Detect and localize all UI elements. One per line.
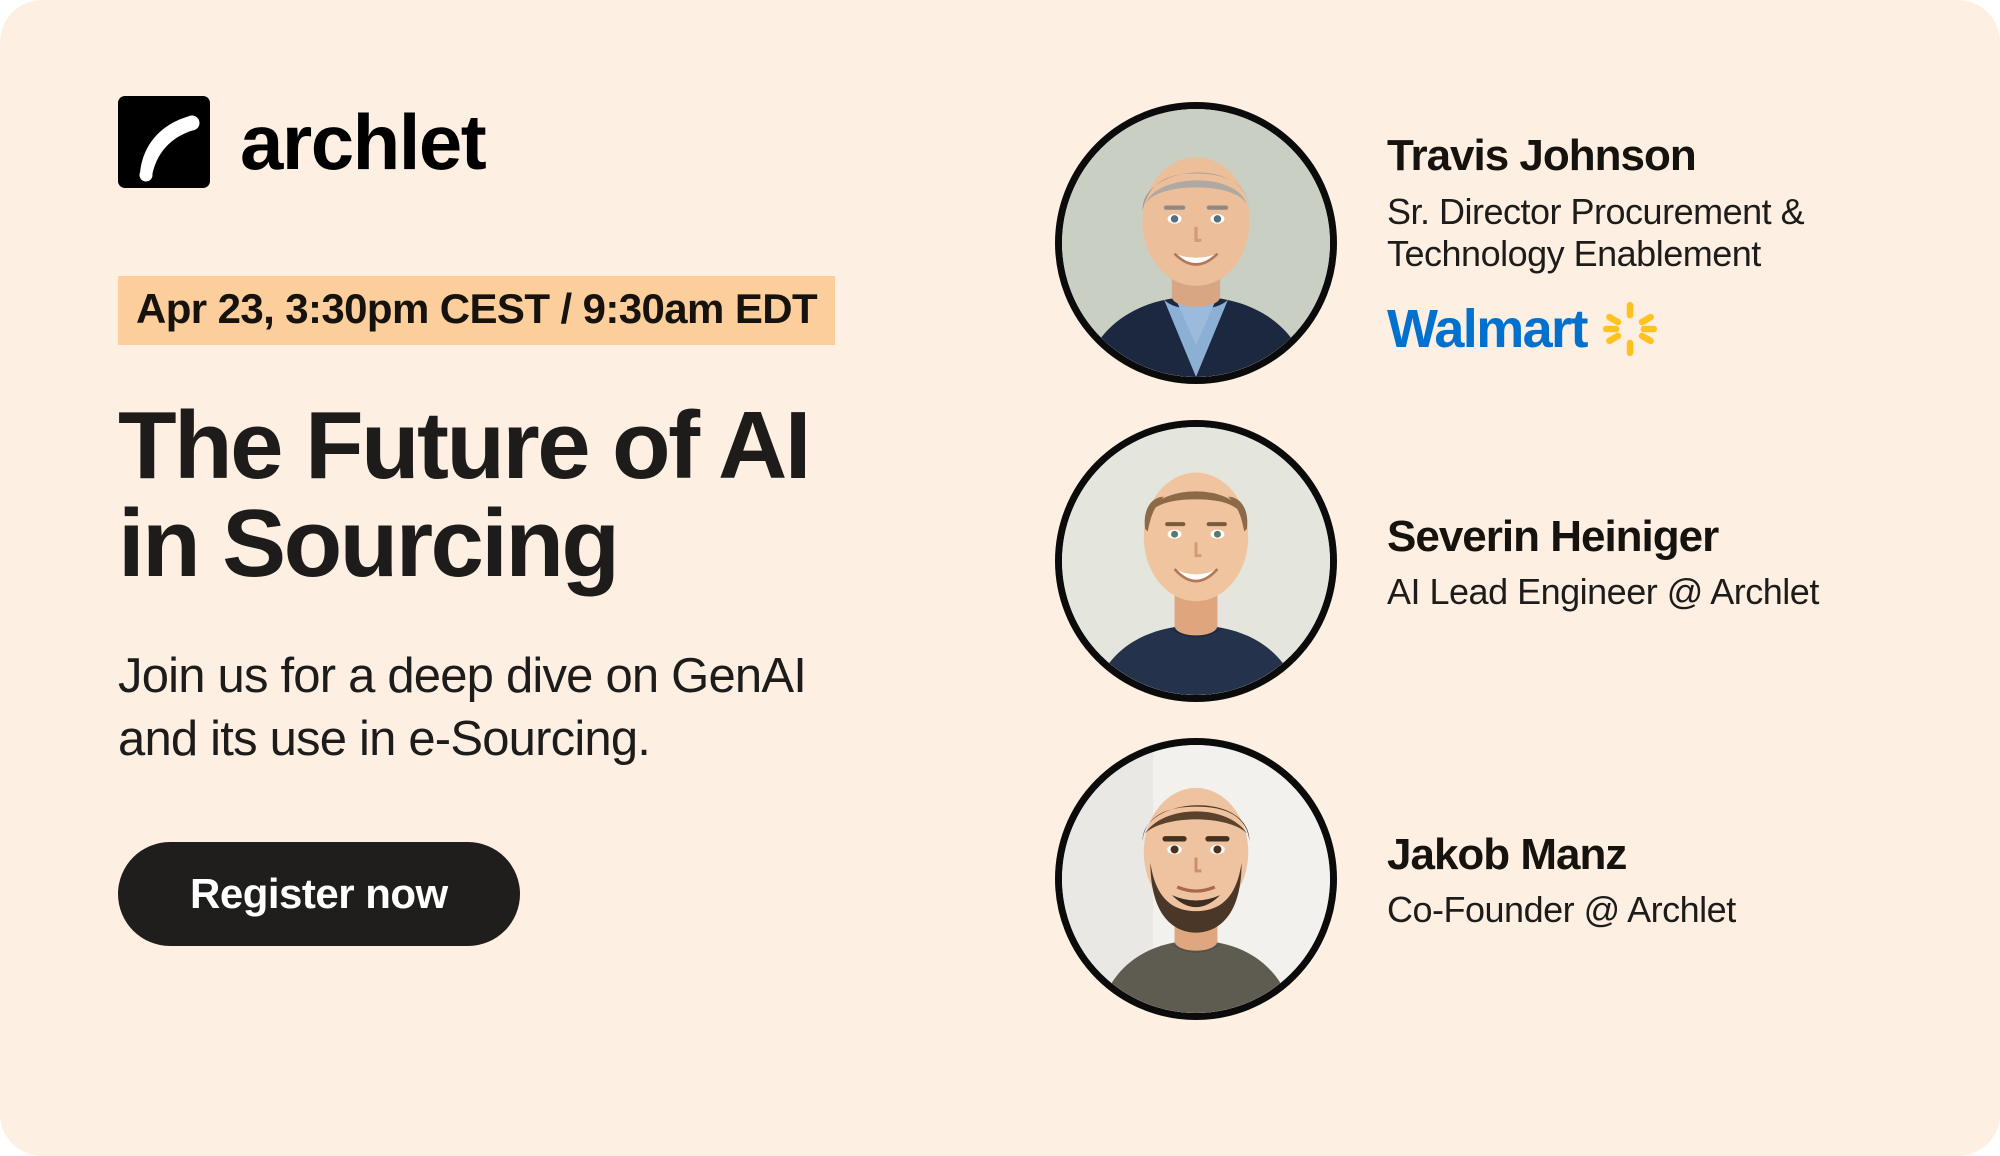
headline-line-1: The Future of AI (118, 397, 968, 495)
speakers-list: Travis Johnson Sr. Director Procurement … (1055, 98, 1955, 1052)
speaker-role-line-2: Technology Enablement (1387, 233, 1955, 275)
speaker-info: Jakob Manz Co-Founder @ Archlet (1387, 827, 1955, 932)
speaker-card: Severin Heiniger AI Lead Engineer @ Arch… (1055, 416, 1955, 706)
avatar (1055, 420, 1337, 702)
subtitle-line-2: and its use in e-Sourcing. (118, 708, 968, 771)
speaker-role: Co-Founder @ Archlet (1387, 889, 1955, 931)
speaker-name: Travis Johnson (1387, 132, 1955, 180)
cta-wrapper: Register now (118, 842, 968, 946)
speaker-role-line-1: AI Lead Engineer @ Archlet (1387, 571, 1955, 613)
speaker-name: Jakob Manz (1387, 831, 1955, 879)
speaker-role-line-1: Co-Founder @ Archlet (1387, 889, 1955, 931)
speaker-role: Sr. Director Procurement & Technology En… (1387, 191, 1955, 276)
walmart-spark-icon (1601, 300, 1659, 358)
speaker-card: Jakob Manz Co-Founder @ Archlet (1055, 734, 1955, 1024)
register-now-button[interactable]: Register now (118, 842, 520, 946)
webinar-promo-card: archlet Apr 23, 3:30pm CEST / 9:30am EDT… (0, 0, 2000, 1156)
archlet-arc-mark-icon (118, 96, 210, 188)
walmart-wordmark: Walmart (1387, 302, 1587, 356)
subtitle-line-1: Join us for a deep dive on GenAI (118, 645, 968, 708)
page-title: The Future of AI in Sourcing (118, 397, 968, 593)
left-content-column: archlet Apr 23, 3:30pm CEST / 9:30am EDT… (118, 96, 968, 946)
event-subtitle: Join us for a deep dive on GenAI and its… (118, 645, 968, 770)
speaker-card: Travis Johnson Sr. Director Procurement … (1055, 98, 1955, 388)
speaker-role-line-1: Sr. Director Procurement & (1387, 191, 1955, 233)
speaker-info: Travis Johnson Sr. Director Procurement … (1387, 128, 1955, 357)
headline-line-2: in Sourcing (118, 495, 968, 593)
speaker-name: Severin Heiniger (1387, 513, 1955, 561)
archlet-wordmark: archlet (240, 103, 485, 181)
event-date-badge: Apr 23, 3:30pm CEST / 9:30am EDT (118, 276, 835, 345)
avatar (1055, 102, 1337, 384)
speaker-info: Severin Heiniger AI Lead Engineer @ Arch… (1387, 509, 1955, 614)
date-badge-wrapper: Apr 23, 3:30pm CEST / 9:30am EDT (118, 276, 968, 345)
speaker-role: AI Lead Engineer @ Archlet (1387, 571, 1955, 613)
archlet-logo: archlet (118, 96, 968, 188)
avatar (1055, 738, 1337, 1020)
walmart-logo: Walmart (1387, 300, 1955, 358)
